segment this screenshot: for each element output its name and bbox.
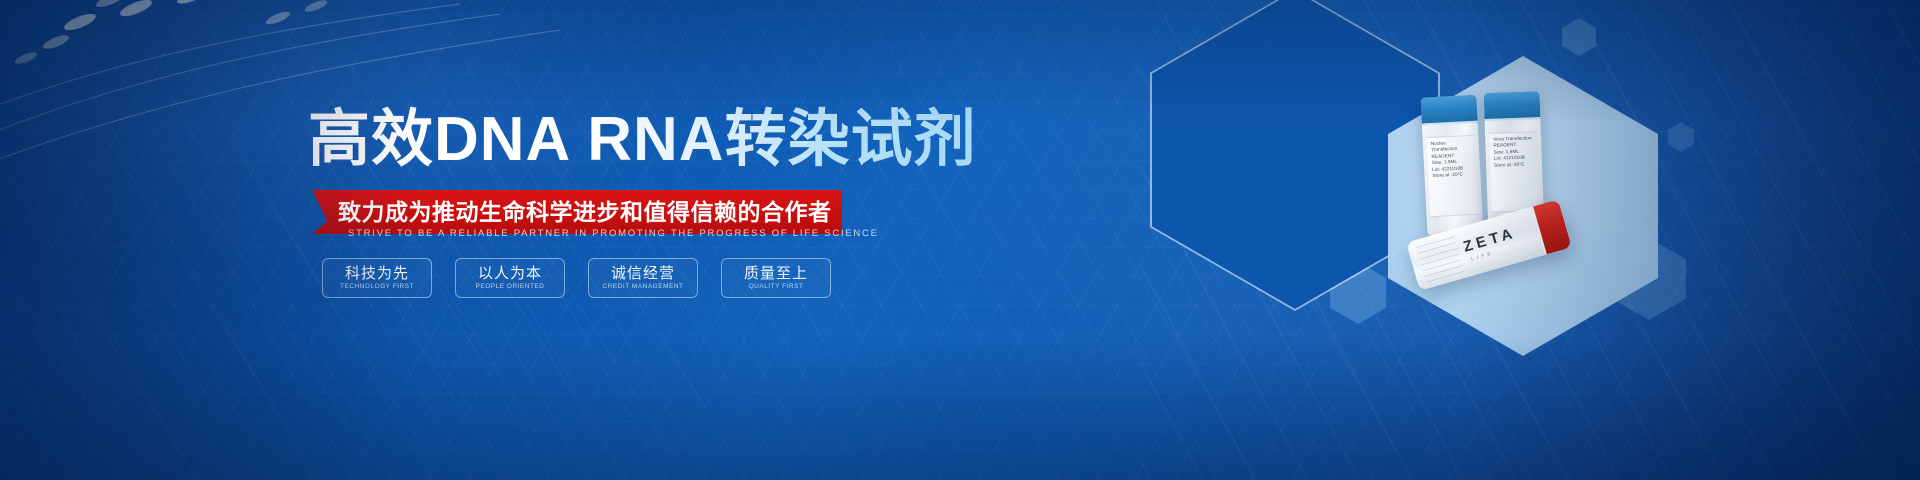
feature-pill-label-cn: 以人为本 xyxy=(478,266,542,281)
product-vial-left: Nucleo Transfection REAGENT Size: 1.5ML … xyxy=(1420,95,1483,238)
promo-banner: 高效DNA RNA转染试剂 高效DNA RNA转染试剂 致力成为推动生命科学进步… xyxy=(0,0,1920,480)
page-title: 高效DNA RNA转染试剂 xyxy=(308,104,977,175)
slogan-english: STRIVE TO BE A RELIABLE PARTNER IN PROMO… xyxy=(348,228,879,239)
feature-pill-people-oriented[interactable]: 以人为本 PEOPLE ORIENTED xyxy=(455,258,565,298)
vial-label-text: Virus Transfection REAGENT Size: 1.5ML L… xyxy=(1489,132,1538,169)
decorative-hexagon xyxy=(1562,18,1596,56)
feature-pill-label-cn: 诚信经营 xyxy=(611,266,675,281)
vial-cap-blue xyxy=(1484,91,1541,121)
feature-pill-list: 科技为先 TECHNOLOGY FIRST 以人为本 PEOPLE ORIENT… xyxy=(322,258,831,298)
feature-pill-label-en: PEOPLE ORIENTED xyxy=(476,284,545,291)
feature-pill-label-en: CREDIT MANAGEMENT xyxy=(603,284,684,291)
vial-label-barcode xyxy=(1416,235,1465,283)
feature-pill-label-en: QUALITY FIRST xyxy=(749,284,804,291)
vial-label: Nucleo Transfection REAGENT Size: 1.5ML … xyxy=(1426,135,1478,217)
feature-pill-credit-management[interactable]: 诚信经营 CREDIT MANAGEMENT xyxy=(588,258,698,298)
feature-pill-label-en: TECHNOLOGY FIRST xyxy=(340,284,414,291)
decorative-hexagon xyxy=(1668,122,1694,152)
vial-cap-red xyxy=(1531,199,1572,255)
banner-text-content: 高效DNA RNA转染试剂 高效DNA RNA转染试剂 致力成为推动生命科学进步… xyxy=(0,0,980,480)
feature-pill-label-cn: 质量至上 xyxy=(744,266,808,281)
vial-cap-blue xyxy=(1420,95,1477,126)
vial-label: Virus Transfection REAGENT Size: 1.5ML L… xyxy=(1489,131,1540,213)
product-vials-group: Nucleo Transfection REAGENT Size: 1.5ML … xyxy=(1396,88,1656,324)
vial-body: Nucleo Transfection REAGENT Size: 1.5ML … xyxy=(1422,123,1484,238)
feature-pill-quality-first[interactable]: 质量至上 QUALITY FIRST xyxy=(721,258,831,298)
product-artwork: Nucleo Transfection REAGENT Size: 1.5ML … xyxy=(1160,0,1920,480)
feature-pill-label-cn: 科技为先 xyxy=(345,266,409,281)
feature-pill-technology-first[interactable]: 科技为先 TECHNOLOGY FIRST xyxy=(322,258,432,298)
vial-label-text: Nucleo Transfection REAGENT Size: 1.5ML … xyxy=(1427,136,1477,180)
